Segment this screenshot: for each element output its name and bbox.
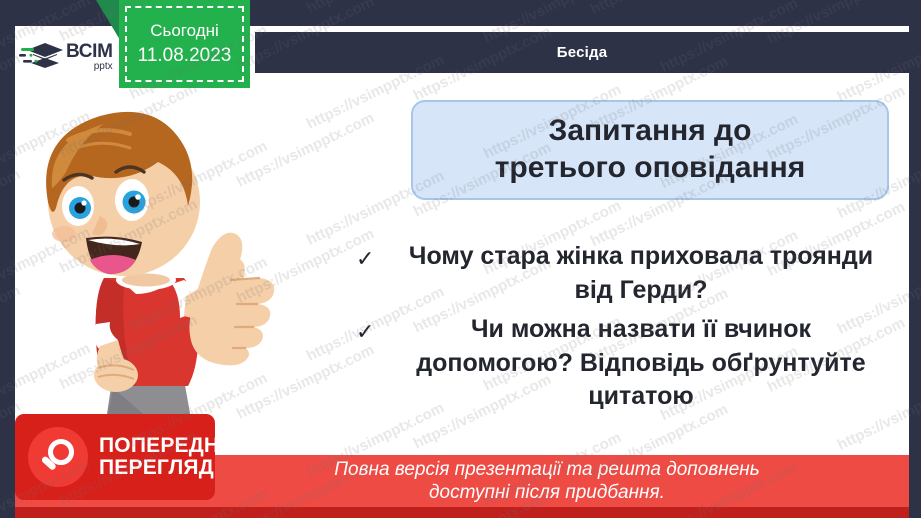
list-item: ✓ Чи можна назвати її вчинок допомогою? …: [352, 313, 904, 414]
list-item-text: Чи можна назвати її вчинок допомогою? Ві…: [390, 313, 904, 414]
logo-suffix: pptx: [66, 62, 113, 72]
preview-badge-circle: [28, 427, 88, 487]
header-title: Бесіда: [557, 44, 608, 61]
magnifier-icon: [39, 438, 77, 476]
title-line-1: Запитання до: [549, 114, 752, 147]
banner-bottom-strip: [15, 507, 909, 518]
graduation-cap-icon: [19, 39, 65, 75]
brand-logo: ВСІМ pptx: [15, 26, 119, 88]
date-badge-value: 11.08.2023: [138, 45, 232, 67]
title-line-2: третього оповідання: [495, 151, 806, 184]
checkmark-icon: ✓: [352, 313, 390, 351]
banner-line-1: Повна версія презентації та решта доповн…: [164, 458, 759, 481]
page-title: Запитання до третього оповідання: [481, 113, 820, 186]
banner-line-2: доступні після придбання.: [259, 481, 665, 504]
logo-name: ВСІМ: [66, 42, 113, 61]
preview-badge: ПОПЕРЕДНІЙ ПЕРЕГЛЯД: [15, 414, 215, 500]
question-list: ✓ Чому стара жінка приховала троянди від…: [352, 240, 904, 420]
date-badge: Сьогодні 11.08.2023: [119, 0, 250, 88]
logo-wordmark: ВСІМ pptx: [66, 42, 113, 72]
header-bar: Бесіда: [255, 32, 909, 73]
slide-canvas: Бесіда ВСІМ pptx Сьогодні 11.08.2023: [0, 0, 921, 518]
list-item-text: Чому стара жінка приховала троянди від Г…: [390, 240, 904, 307]
title-box: Запитання до третього оповідання: [411, 100, 889, 200]
preview-badge-line-1: ПОПЕРЕДНІЙ: [99, 435, 241, 457]
preview-badge-text: ПОПЕРЕДНІЙ ПЕРЕГЛЯД: [99, 435, 241, 478]
date-badge-label: Сьогодні: [150, 21, 219, 41]
checkmark-icon: ✓: [352, 240, 390, 278]
preview-badge-line-2: ПЕРЕГЛЯД: [99, 457, 241, 479]
list-item: ✓ Чому стара жінка приховала троянди від…: [352, 240, 904, 307]
frame-right-band: [909, 0, 921, 518]
